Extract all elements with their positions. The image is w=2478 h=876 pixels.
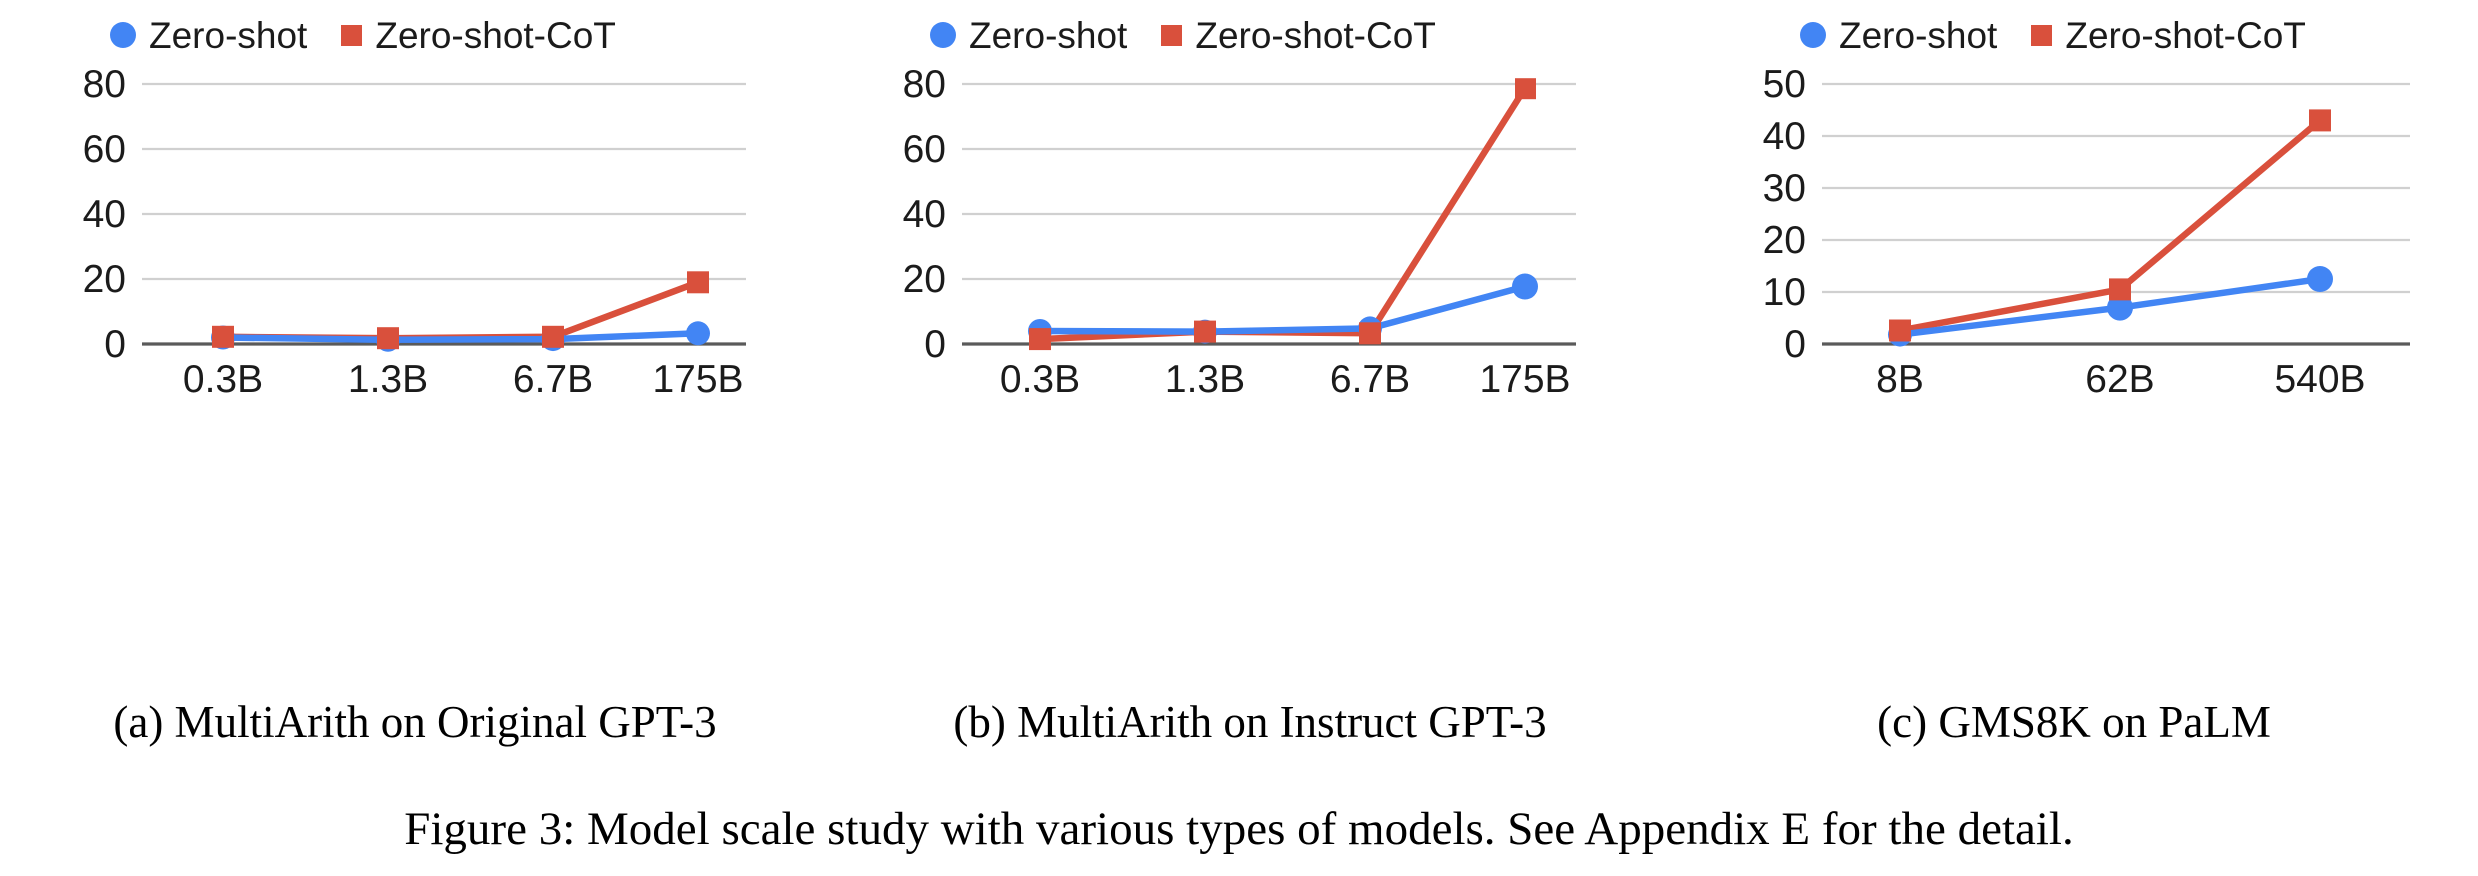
figure-caption: Figure 3: Model scale study with various… — [0, 780, 2478, 853]
data-point-zero-shot-cot — [212, 326, 234, 348]
chart-panels-row: Zero-shot Zero-shot-CoT 80 60 40 20 0 — [0, 0, 2478, 700]
legend-item-zero-shot-cot-a: Zero-shot-CoT — [341, 17, 616, 54]
data-point-zero-shot-cot — [2109, 278, 2131, 300]
chart-svg-c: 50 40 30 20 10 0 — [1720, 70, 2460, 400]
x-tick-label: 62B — [2085, 358, 2154, 400]
chart-panel-c: Zero-shot Zero-shot-CoT 50 40 30 20 10 0 — [1670, 0, 2478, 400]
legend-item-zero-shot-c: Zero-shot — [1800, 17, 1997, 54]
data-point-zero-shot-cot — [687, 271, 709, 293]
data-point-zero-shot-cot — [1515, 78, 1536, 99]
plot-area-b: 80 60 40 20 0 — [850, 70, 1670, 400]
legend-label-zero-shot-cot: Zero-shot-CoT — [2065, 17, 2306, 54]
data-point-zero-shot-cot — [542, 326, 564, 348]
data-point-zero-shot — [1512, 274, 1538, 300]
circle-marker-icon — [110, 22, 136, 48]
y-tick-label: 50 — [1763, 70, 1806, 106]
data-point-zero-shot-cot — [1029, 328, 1051, 350]
legend-label-zero-shot: Zero-shot — [149, 17, 307, 54]
x-tick-label: 8B — [1876, 358, 1924, 400]
square-marker-icon — [1161, 25, 1182, 46]
legend-panel-a: Zero-shot Zero-shot-CoT — [30, 0, 830, 70]
legend-panel-b: Zero-shot Zero-shot-CoT — [850, 0, 1670, 70]
legend-item-zero-shot-a: Zero-shot — [110, 17, 307, 54]
y-tick-label: 60 — [83, 128, 126, 171]
y-tick-label: 0 — [104, 323, 126, 366]
plot-area-c: 50 40 30 20 10 0 — [1720, 70, 2478, 400]
y-tick-label: 40 — [83, 193, 126, 236]
plot-area-a: 80 60 40 20 0 — [30, 70, 830, 400]
subcaption-b: (b) MultiArith on Instruct GPT-3 — [830, 700, 1670, 745]
subcaption-a: (a) MultiArith on Original GPT-3 — [0, 700, 830, 745]
data-point-zero-shot-cot — [1889, 320, 1911, 342]
y-tick-label: 40 — [1763, 115, 1806, 158]
chart-panel-a: Zero-shot Zero-shot-CoT 80 60 40 20 0 — [0, 0, 830, 400]
square-marker-icon — [2031, 25, 2052, 46]
legend-item-zero-shot-cot-b: Zero-shot-CoT — [1161, 17, 1436, 54]
x-tick-label: 1.3B — [348, 358, 428, 400]
legend-label-zero-shot: Zero-shot — [969, 17, 1127, 54]
y-tick-label: 80 — [903, 70, 946, 106]
circle-marker-icon — [1800, 22, 1826, 48]
series-line-zero-shot — [1040, 287, 1525, 332]
legend-label-zero-shot-cot: Zero-shot-CoT — [1195, 17, 1436, 54]
data-point-zero-shot-cot — [377, 327, 399, 349]
data-point-zero-shot-cot — [1194, 321, 1216, 343]
series-line-zero-shot-cot — [223, 282, 698, 338]
legend-item-zero-shot-b: Zero-shot — [930, 17, 1127, 54]
x-tick-label: 6.7B — [513, 358, 593, 400]
data-point-zero-shot-cot — [2309, 109, 2331, 131]
square-marker-icon — [341, 25, 362, 46]
x-tick-label: 0.3B — [1000, 358, 1080, 400]
x-tick-label: 540B — [2274, 358, 2365, 400]
circle-marker-icon — [930, 22, 956, 48]
data-point-zero-shot-cot — [1359, 322, 1381, 344]
x-tick-label: 6.7B — [1330, 358, 1410, 400]
x-tick-label: 0.3B — [183, 358, 263, 400]
x-tick-label: 175B — [1479, 358, 1570, 400]
y-tick-label: 60 — [903, 128, 946, 171]
chart-panel-b: Zero-shot Zero-shot-CoT 80 60 40 20 0 — [830, 0, 1670, 400]
x-tick-label: 1.3B — [1165, 358, 1245, 400]
y-tick-label: 20 — [1763, 219, 1806, 262]
subcaption-c: (c) GMS8K on PaLM — [1670, 700, 2478, 745]
x-tick-label: 175B — [652, 358, 743, 400]
y-tick-label: 0 — [924, 323, 946, 366]
legend-label-zero-shot-cot: Zero-shot-CoT — [375, 17, 616, 54]
legend-panel-c: Zero-shot Zero-shot-CoT — [1720, 0, 2478, 70]
subcaption-row: (a) MultiArith on Original GPT-3 (b) Mul… — [0, 700, 2478, 780]
y-tick-label: 10 — [1763, 271, 1806, 314]
legend-label-zero-shot: Zero-shot — [1839, 17, 1997, 54]
figure-3-container: Zero-shot Zero-shot-CoT 80 60 40 20 0 — [0, 0, 2478, 876]
y-tick-label: 20 — [903, 258, 946, 301]
data-point-zero-shot — [2307, 266, 2333, 292]
chart-svg-b: 80 60 40 20 0 — [850, 70, 1660, 400]
legend-item-zero-shot-cot-c: Zero-shot-CoT — [2031, 17, 2306, 54]
y-tick-label: 20 — [83, 258, 126, 301]
y-tick-label: 80 — [83, 70, 126, 106]
y-tick-label: 30 — [1763, 167, 1806, 210]
data-point-zero-shot — [686, 321, 710, 345]
chart-svg-a: 80 60 40 20 0 — [30, 70, 830, 400]
y-tick-label: 0 — [1784, 323, 1806, 366]
y-tick-label: 40 — [903, 193, 946, 236]
